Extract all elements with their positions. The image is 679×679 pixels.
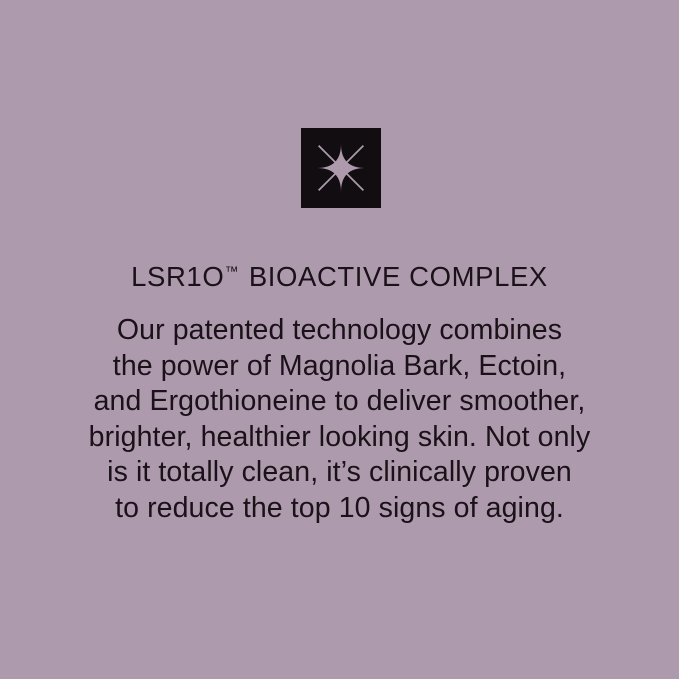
body-copy: Our patented technology combines the pow… <box>0 313 679 526</box>
trademark-symbol: ™ <box>225 264 239 279</box>
product-info-card: LSR1O™ BIOACTIVE COMPLEX Our patented te… <box>0 0 679 679</box>
page-title: LSR1O™ BIOACTIVE COMPLEX <box>0 262 679 292</box>
body-line-5: is it totally clean, it’s clinically pro… <box>0 455 679 491</box>
body-line-1: Our patented technology combines <box>0 313 679 349</box>
body-line-2: the power of Magnolia Bark, Ectoin, <box>0 349 679 385</box>
body-line-6: to reduce the top 10 signs of aging. <box>0 491 679 527</box>
body-line-4: brighter, healthier looking skin. Not on… <box>0 420 679 456</box>
body-line-3: and Ergothioneine to deliver smoother, <box>0 384 679 420</box>
four-petal-flower-logo <box>301 128 381 208</box>
product-name: LSR1O <box>131 261 224 292</box>
headline-suffix: BIOACTIVE COMPLEX <box>249 261 548 292</box>
